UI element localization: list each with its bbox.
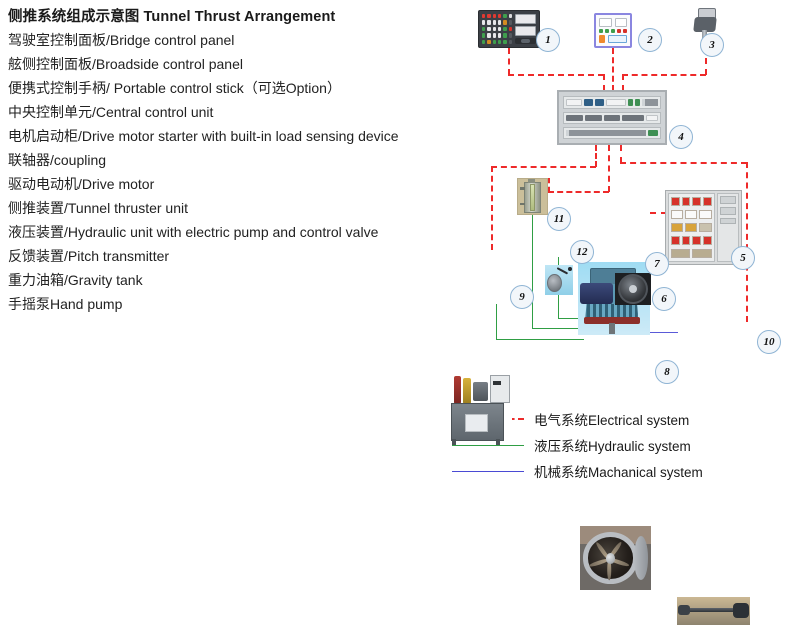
wire-electrical-ccu-drop-mid xyxy=(608,145,610,192)
node-bridge-control-panel[interactable] xyxy=(478,10,540,48)
cabinet-terminal xyxy=(692,236,701,245)
node-coupling[interactable] xyxy=(615,273,651,305)
ccu-plc-shelf xyxy=(563,96,661,109)
cabinet-terminal xyxy=(671,236,680,245)
legend-item-9: 液压装置/Hydraulic unit with electric pump a… xyxy=(8,220,458,244)
wire-hydraulic-9-across xyxy=(496,339,584,340)
bridge-key xyxy=(509,33,512,37)
hydraulic-filter-red xyxy=(454,376,461,404)
badge-2: 2 xyxy=(638,28,662,52)
bridge-key xyxy=(509,27,512,31)
bridge-key xyxy=(482,14,485,18)
legend-item-11: 重力油箱/Gravity tank xyxy=(8,268,458,292)
node-gravity-tank[interactable] xyxy=(517,178,548,215)
sight-glass-icon xyxy=(530,184,536,211)
cabinet-terminal xyxy=(682,236,691,245)
wire-electrical-right-across xyxy=(620,162,747,164)
pitch-sensor-head xyxy=(733,603,749,618)
bridge-key xyxy=(487,33,490,37)
gearbox-shaft xyxy=(609,323,615,333)
ccu-terminal-block xyxy=(566,130,646,136)
broadside-led-row xyxy=(599,29,627,33)
wire-hydraulic-11-across xyxy=(532,328,584,329)
legend-item-1: 驾驶室控制面板/Bridge control panel xyxy=(8,28,458,52)
bridge-key xyxy=(487,27,490,31)
badge-12: 12 xyxy=(570,240,594,264)
node-broadside-control-panel[interactable] xyxy=(594,13,632,48)
legend-item-7: 驱动电动机/Drive motor xyxy=(8,172,458,196)
pitch-end-fitting xyxy=(678,605,690,616)
bridge-keypad xyxy=(482,14,512,44)
status-led-icon xyxy=(611,29,615,33)
key-label-hydraulic: 液压系统Hydraulic system xyxy=(534,435,691,455)
badge-6: 6 xyxy=(652,287,676,311)
bridge-key-row xyxy=(482,27,512,31)
cabinet-contactor xyxy=(699,210,711,219)
node-tunnel-thruster-unit[interactable] xyxy=(580,526,651,590)
wire-electrical-3-to-ccu xyxy=(622,74,624,91)
badge-4: 4 xyxy=(669,125,693,149)
page-title: 侧推系统组成示意图 Tunnel Thrust Arrangement xyxy=(8,6,458,28)
ccu-din-rail xyxy=(642,99,658,106)
hydraulic-filter-yellow xyxy=(463,378,471,404)
wire-electrical-3-across xyxy=(622,74,706,76)
ccu-module xyxy=(595,99,604,106)
ccu-breaker xyxy=(604,115,621,121)
node-hand-pump[interactable] xyxy=(545,265,573,295)
badge-10: 10 xyxy=(757,330,781,354)
bridge-key xyxy=(487,40,490,44)
wire-electrical-ccu-drop-left xyxy=(595,145,597,167)
mechanical-line-swatch-icon xyxy=(452,471,524,472)
status-led-icon xyxy=(617,29,621,33)
badge-3: 3 xyxy=(700,33,724,57)
status-led-icon xyxy=(605,29,609,33)
bridge-key xyxy=(482,40,485,44)
bridge-key xyxy=(503,27,506,31)
bridge-key xyxy=(498,33,501,37)
bridge-key xyxy=(493,20,496,24)
cabinet-relay xyxy=(685,223,697,232)
wire-electrical-1-down xyxy=(508,48,510,75)
badge-8: 8 xyxy=(655,360,679,384)
bridge-key xyxy=(493,33,496,37)
bridge-key xyxy=(487,20,490,24)
bridge-key xyxy=(509,14,512,18)
key-label-mechanical: 机械系统Machanical system xyxy=(534,461,703,481)
ccu-module xyxy=(606,99,626,106)
bridge-key xyxy=(503,33,506,37)
wire-electrical-2-down xyxy=(612,48,614,91)
ccu-breaker-shelf xyxy=(563,112,661,124)
propeller-hub xyxy=(606,553,615,564)
ccu-module xyxy=(628,99,633,106)
badge-7: 7 xyxy=(645,252,669,276)
hydraulic-leg xyxy=(452,439,456,445)
wire-electrical-to-hydraulic-unit xyxy=(491,166,493,250)
wire-electrical-mid-across xyxy=(548,191,609,193)
node-pitch-transmitter[interactable] xyxy=(677,597,750,625)
tank-port-icon xyxy=(520,187,525,189)
door-terminal-strip xyxy=(720,218,736,224)
bridge-key-row xyxy=(482,33,512,37)
legend-item-6: 联轴器/coupling xyxy=(8,148,458,172)
hydraulic-pump-motor xyxy=(473,382,488,401)
legend-item-8: 侧推装置/Tunnel thruster unit xyxy=(8,196,458,220)
bridge-key-row xyxy=(482,14,512,18)
ccu-breaker xyxy=(585,115,602,121)
tank-cap-icon xyxy=(528,179,535,183)
wire-hydraulic-11-down xyxy=(532,214,533,329)
cabinet-contactor xyxy=(685,210,697,219)
bridge-lever-icon xyxy=(515,38,536,44)
ccu-terminal xyxy=(648,130,658,136)
hydraulic-leg xyxy=(496,439,500,445)
broadside-controls xyxy=(599,35,627,43)
bridge-key-row xyxy=(482,40,512,44)
bridge-key xyxy=(503,20,506,24)
bridge-key xyxy=(482,27,485,31)
bridge-display xyxy=(515,14,536,24)
gearbox-fins xyxy=(587,304,637,317)
cabinet-shelf xyxy=(671,248,712,259)
cabinet-relay xyxy=(699,223,711,232)
hand-pump-knob-icon xyxy=(568,267,572,271)
broadside-screen xyxy=(615,18,628,27)
cabinet-shelf xyxy=(671,196,712,207)
bridge-key xyxy=(509,40,512,44)
ccu-breaker xyxy=(646,115,658,121)
broadside-keypad xyxy=(608,35,627,43)
hand-pump-body xyxy=(547,274,562,292)
tank-port-icon xyxy=(520,203,525,205)
badge-11: 11 xyxy=(547,207,571,231)
bridge-display xyxy=(515,26,536,36)
bridge-key xyxy=(487,14,490,18)
bridge-key xyxy=(503,14,506,18)
cabinet-wiring xyxy=(692,249,711,258)
bridge-key xyxy=(503,40,506,44)
broadside-button-icon xyxy=(599,35,605,43)
bridge-key xyxy=(498,20,501,24)
cabinet-terminal xyxy=(703,236,712,245)
cabinet-interior xyxy=(668,193,715,262)
door-terminal-strip xyxy=(720,196,736,204)
wire-electrical-to-gravity-tank xyxy=(548,178,550,192)
bridge-key-row xyxy=(482,20,512,24)
status-led-icon xyxy=(623,29,627,33)
bridge-key xyxy=(482,33,485,37)
cabinet-breaker xyxy=(692,197,701,206)
ccu-terminal-shelf xyxy=(563,127,661,139)
bridge-key xyxy=(493,40,496,44)
bridge-key xyxy=(493,14,496,18)
thruster-tunnel-ring xyxy=(634,536,648,580)
hydraulic-nameplate xyxy=(465,414,488,432)
wire-hydraulic-9-down xyxy=(496,304,497,340)
legend-item-3: 便携式控制手柄/ Portable control stick（可选Option… xyxy=(8,76,458,100)
cabinet-wiring xyxy=(671,249,690,258)
wire-mechanical-thruster-to-pitch xyxy=(650,332,678,333)
badge-5: 5 xyxy=(731,246,755,270)
node-drive-motor-starter[interactable] xyxy=(665,190,742,265)
coupling-disc-icon xyxy=(618,274,648,304)
wire-electrical-ccu-left-across xyxy=(491,166,596,168)
ccu-module xyxy=(584,99,593,106)
broadside-screens xyxy=(599,18,627,27)
hydraulic-control-box xyxy=(490,375,511,403)
node-central-control-unit[interactable] xyxy=(557,90,667,145)
cabinet-shelf xyxy=(671,222,712,233)
cabinet-shelf xyxy=(671,209,712,220)
wire-electrical-to-pitch-transmitter xyxy=(746,162,748,322)
legend-item-2: 舷侧控制面板/Broadside control panel xyxy=(8,52,458,76)
key-label-electrical: 电气系统Electrical system xyxy=(534,409,689,429)
hand-pump-lever-icon xyxy=(557,268,569,276)
cabinet-breaker xyxy=(703,197,712,206)
cabinet-breaker xyxy=(671,197,680,206)
bridge-display-stack xyxy=(515,14,536,44)
status-led-icon xyxy=(599,29,603,33)
key-row-mechanical: 机械系统Machanical system xyxy=(452,458,782,484)
legend-item-5: 电机启动柜/Drive motor starter with built-in … xyxy=(8,124,458,148)
door-terminal-strip xyxy=(720,207,736,215)
cabinet-shelf xyxy=(671,235,712,246)
bridge-key xyxy=(498,14,501,18)
ccu-module xyxy=(566,99,582,106)
ccu-breaker xyxy=(622,115,644,121)
ccu-module xyxy=(635,99,640,106)
wire-electrical-1-to-ccu xyxy=(603,74,605,91)
cabinet-relay xyxy=(671,223,683,232)
component-legend-list: 侧推系统组成示意图 Tunnel Thrust Arrangement 驾驶室控… xyxy=(8,6,458,316)
wire-electrical-ccu-drop-right xyxy=(620,145,622,163)
ccu-breaker xyxy=(566,115,583,121)
bridge-key xyxy=(498,27,501,31)
bridge-key xyxy=(482,20,485,24)
legend-item-10: 反馈装置/Pitch transmitter xyxy=(8,244,458,268)
badge-9: 9 xyxy=(510,285,534,309)
cabinet-contactor xyxy=(671,210,683,219)
cabinet-breaker xyxy=(682,197,691,206)
wire-electrical-1-across xyxy=(508,74,604,76)
bridge-key xyxy=(498,40,501,44)
bridge-key xyxy=(493,27,496,31)
legend-item-4: 中央控制单元/Central control unit xyxy=(8,100,458,124)
node-drive-shaft xyxy=(580,283,613,304)
bridge-key xyxy=(509,20,512,24)
legend-item-12: 手摇泵Hand pump xyxy=(8,292,458,316)
badge-1: 1 xyxy=(536,28,560,52)
broadside-screen xyxy=(599,18,612,27)
diagram-page: 侧推系统组成示意图 Tunnel Thrust Arrangement 驾驶室控… xyxy=(0,0,788,490)
node-hydraulic-unit[interactable] xyxy=(450,372,512,445)
